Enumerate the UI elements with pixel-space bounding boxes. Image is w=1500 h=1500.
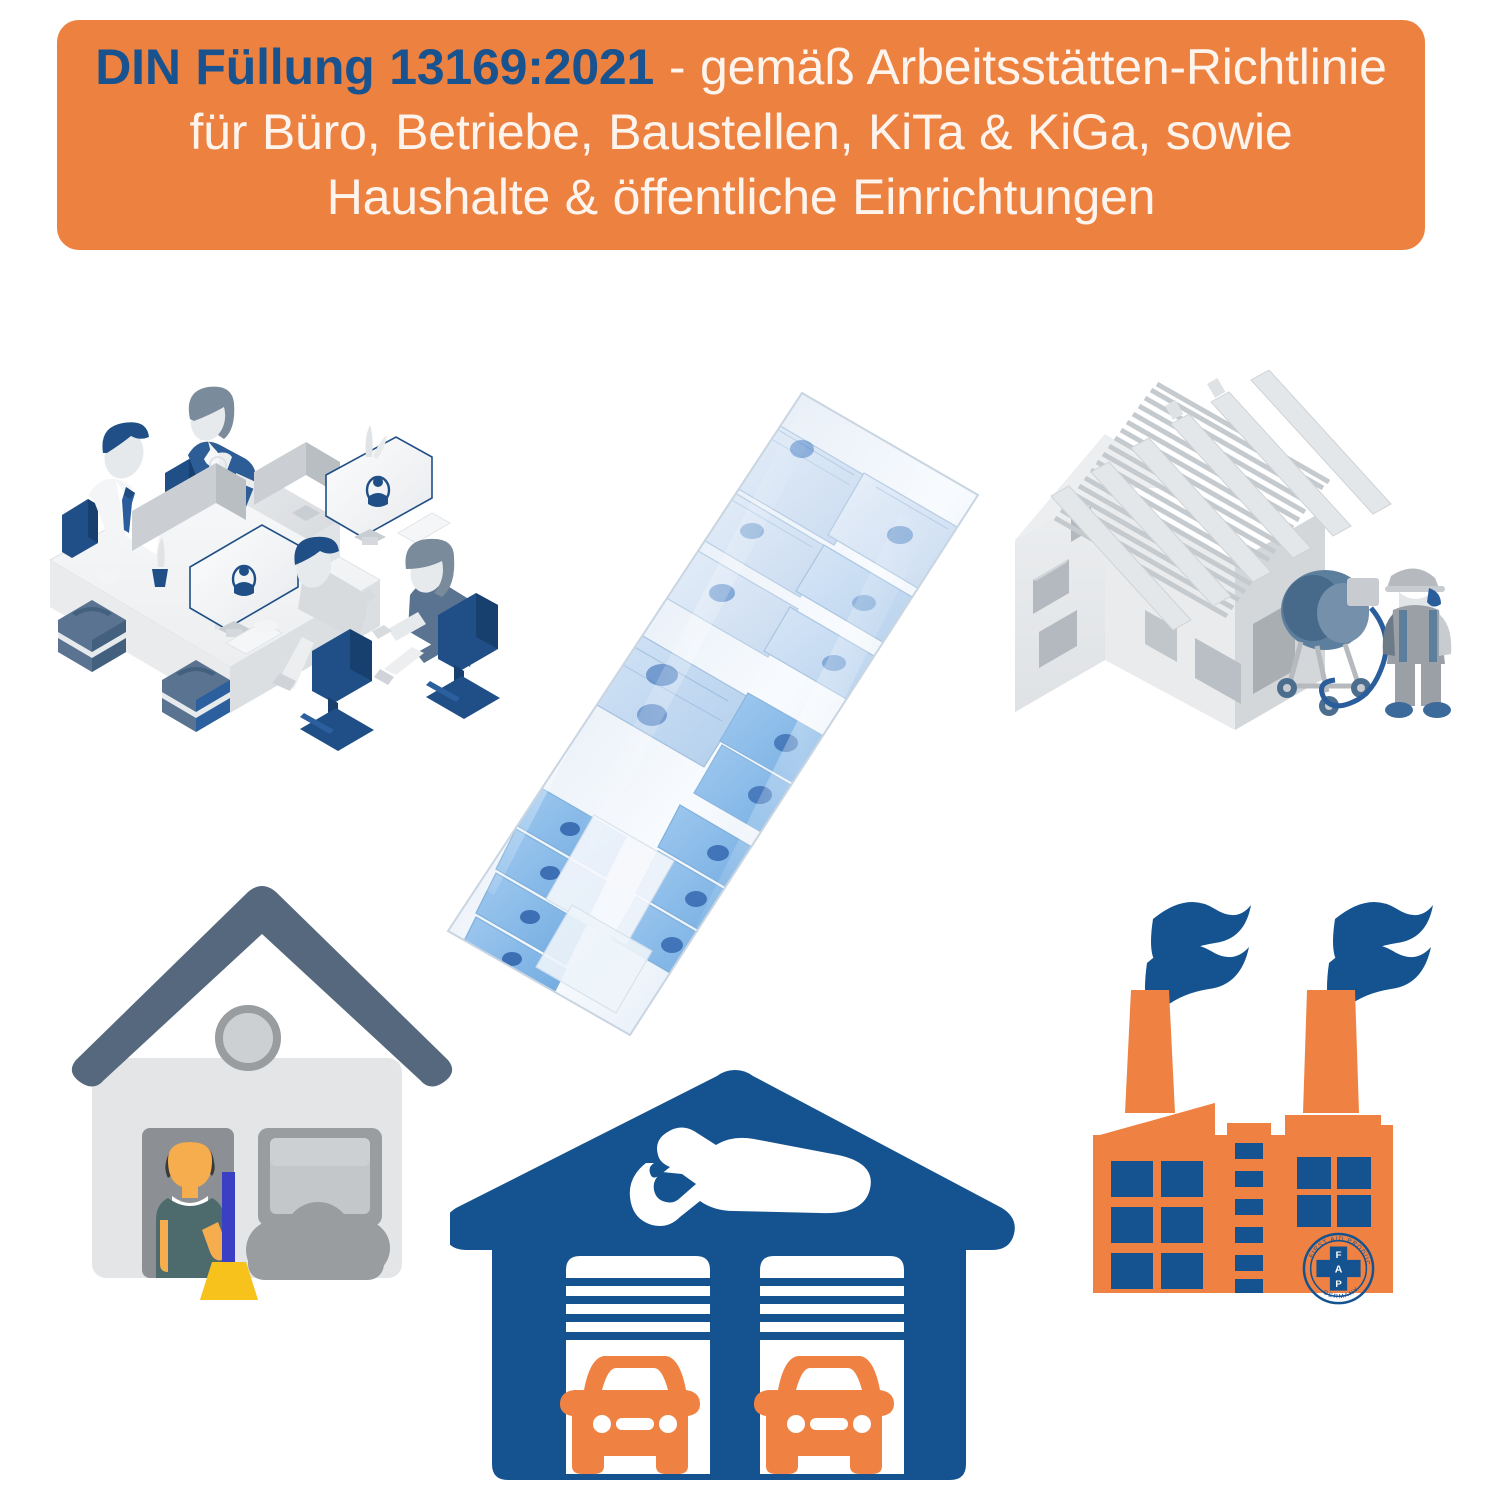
first-aid-refill-product-photo [430, 385, 990, 1050]
banner-text: DIN Füllung 13169:2021 - gemäß Arbeitsst… [81, 35, 1401, 230]
svg-text:P: P [1335, 1279, 1342, 1290]
banner-strong-text: DIN Füllung 13169:2021 [95, 39, 654, 95]
factory-industry-icon: F F A P P FIRST AID PRODUCTS GERMANY [1075, 885, 1465, 1315]
svg-text:F: F [1336, 1250, 1342, 1261]
product-outer-bag [448, 393, 978, 1035]
construction-site-illustration [995, 370, 1475, 745]
chimney-left [1125, 990, 1175, 1113]
page-root: DIN Füllung 13169:2021 - gemäß Arbeitsst… [0, 0, 1500, 1500]
construction-worker [1383, 568, 1452, 718]
workshop-garage-icon [450, 1060, 1020, 1500]
chimney-right [1303, 990, 1359, 1113]
svg-text:F: F [1321, 1263, 1328, 1275]
household-icon [62, 870, 462, 1300]
svg-text:P: P [1350, 1263, 1357, 1275]
headline-banner: DIN Füllung 13169:2021 - gemäß Arbeitsst… [57, 20, 1425, 250]
svg-text:A: A [1335, 1263, 1343, 1275]
